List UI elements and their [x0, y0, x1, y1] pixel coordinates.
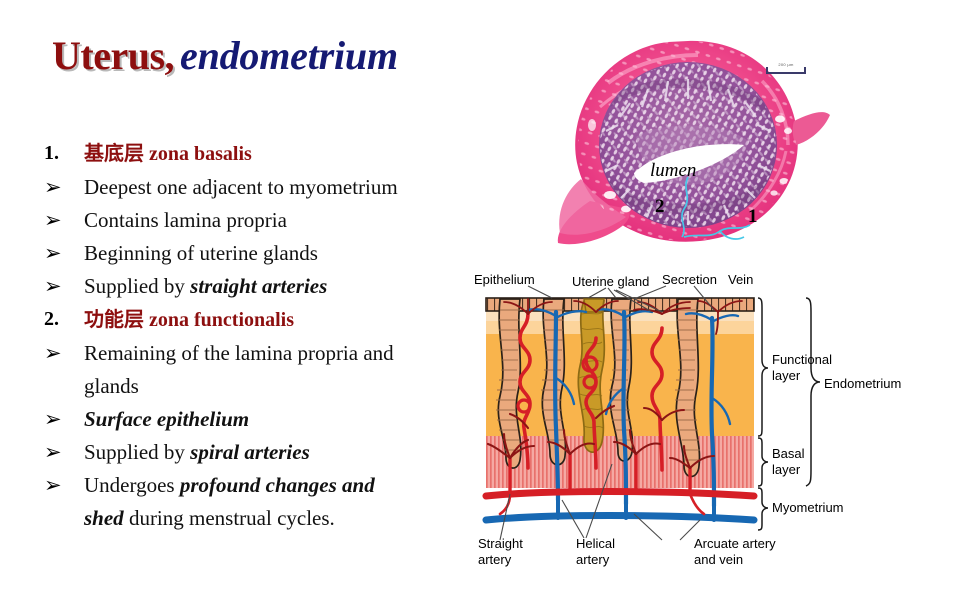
list-item: ➢ Surface epithelium	[44, 403, 474, 436]
label-functional-layer-line2: layer	[772, 368, 801, 383]
list-item-label: zona basalis	[149, 143, 252, 165]
label-helical-artery-line2: artery	[576, 552, 610, 567]
title-main: Uterus,	[52, 33, 174, 78]
label-uterine-gland: Uterine gland	[572, 274, 649, 289]
scale-bar: 200 µm	[766, 62, 806, 74]
list-item-label: zona functionalis	[149, 309, 294, 331]
list-item: ➢ Contains lamina propria	[44, 204, 474, 237]
arrow-bullet-icon: ➢	[44, 270, 78, 303]
label-arcuate-vessels-line2: and vein	[694, 552, 743, 567]
list-item-emphasis: spiral arteries	[190, 440, 310, 464]
list-marker: 2.	[44, 303, 78, 336]
diagram-top-labels: Epithelium Uterine gland Secretion Vein	[474, 272, 753, 289]
list-item-label: Contains lamina propria	[84, 208, 287, 232]
list-item-emphasis: profound changes and	[180, 473, 375, 497]
list-item-continuation: during menstrual cycles.	[124, 506, 335, 530]
slide-canvas: Uterus,endometrium 1. 基底层 zona basalis ➢…	[0, 0, 960, 600]
arrow-bullet-icon: ➢	[44, 337, 78, 370]
label-functional-layer-line1: Functional	[772, 352, 832, 367]
arrow-bullet-icon: ➢	[44, 171, 78, 204]
list-item-emphasis: straight arteries	[190, 274, 327, 298]
arrow-bullet-icon: ➢	[44, 436, 78, 469]
title-subtitle: endometrium	[180, 33, 398, 78]
list-item-label: Beginning of uterine glands	[84, 241, 318, 265]
list-item-label: Supplied by	[84, 274, 190, 298]
arrow-bullet-icon: ➢	[44, 469, 78, 502]
list-item-continuation: glands	[84, 370, 474, 403]
list-item: ➢ Supplied by straight arteries	[44, 270, 474, 303]
arrow-bullet-icon: ➢	[44, 204, 78, 237]
arrow-bullet-icon: ➢	[44, 237, 78, 270]
list-item: 1. 基底层 zona basalis	[44, 137, 474, 171]
label-basal-layer-line2: layer	[772, 462, 801, 477]
label-vein: Vein	[728, 272, 753, 287]
list-item-cjk: 功能层	[84, 307, 144, 331]
list-item-label: Undergoes	[84, 473, 180, 497]
list-item: 2. 功能层 zona functionalis	[44, 303, 474, 337]
schematic-svg: Epithelium Uterine gland Secretion Vein …	[466, 268, 956, 568]
list-item-emphasis: Surface epithelium	[84, 407, 249, 431]
label-helical-artery-line1: Helical	[576, 536, 615, 551]
layer-braces	[758, 298, 820, 530]
label-arcuate-vessels-line1: Arcuate artery	[694, 536, 776, 551]
bullet-list: 1. 基底层 zona basalis ➢ Deepest one adjace…	[44, 137, 474, 535]
diagram-right-labels: Functional layer Basal layer Myometrium …	[772, 352, 901, 515]
list-item: ➢ Beginning of uterine glands	[44, 237, 474, 270]
label-basal-layer-line1: Basal	[772, 446, 805, 461]
list-marker: 1.	[44, 137, 78, 170]
list-item: ➢ Undergoes profound changes and shed du…	[44, 469, 474, 535]
list-item-continuation-emphasis: shed	[84, 506, 124, 530]
label-straight-artery-line1: Straight	[478, 536, 523, 551]
list-item: ➢ Remaining of the lamina propria and gl…	[44, 337, 474, 403]
label-myometrium: Myometrium	[772, 500, 844, 515]
label-epithelium: Epithelium	[474, 272, 535, 287]
list-item: ➢ Supplied by spiral arteries	[44, 436, 474, 469]
page-title: Uterus,endometrium	[52, 36, 398, 76]
list-item-label: Supplied by	[84, 440, 190, 464]
endometrium-schematic: Epithelium Uterine gland Secretion Vein …	[466, 268, 956, 568]
scale-bar-line	[766, 67, 806, 74]
list-item: ➢ Deepest one adjacent to myometrium	[44, 171, 474, 204]
list-item-label: Remaining of the lamina propria and	[84, 341, 394, 365]
list-item-label: Deepest one adjacent to myometrium	[84, 175, 398, 199]
label-straight-artery-line2: artery	[478, 552, 512, 567]
arrow-bullet-icon: ➢	[44, 403, 78, 436]
label-secretion: Secretion	[662, 272, 717, 287]
label-endometrium: Endometrium	[824, 376, 901, 391]
list-item-cjk: 基底层	[84, 141, 144, 165]
